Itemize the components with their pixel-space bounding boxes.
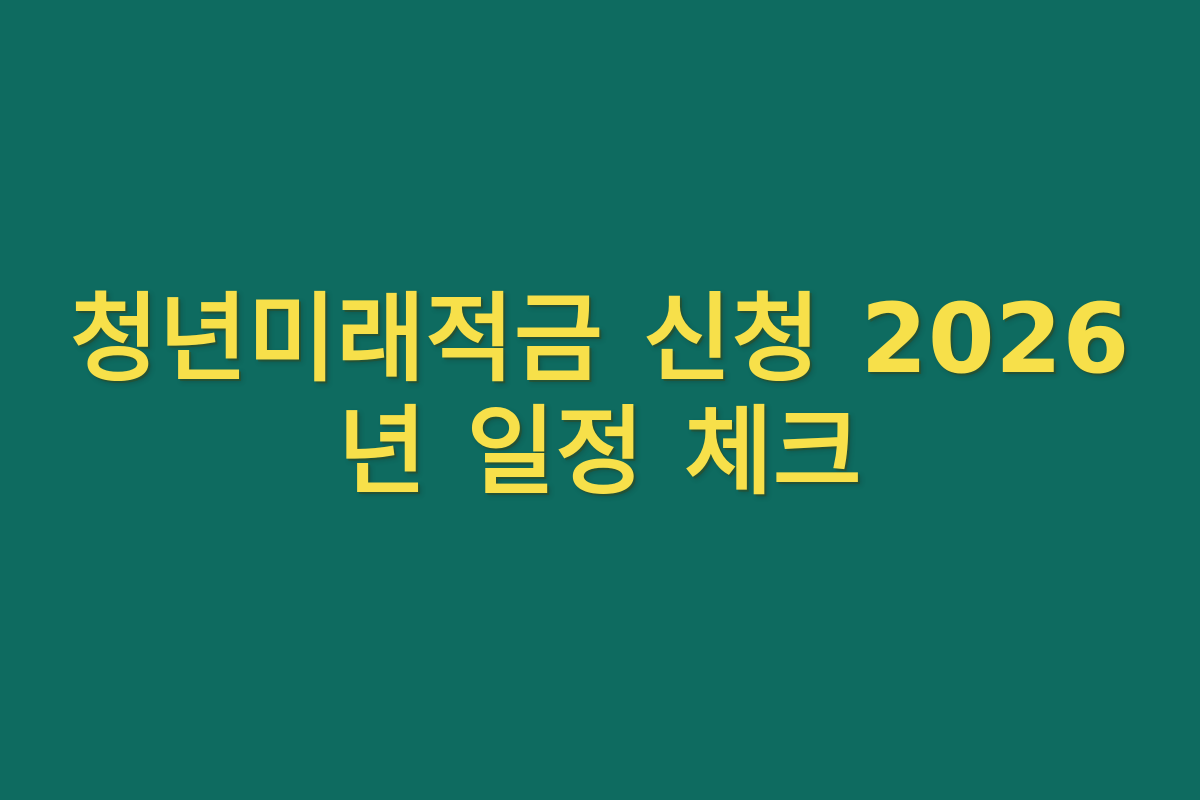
banner-title-block: 청년미래적금 신청 2026 년 일정 체크 [70,283,1130,510]
banner-title-line-2: 년 일정 체크 [70,396,1130,509]
banner-background: 청년미래적금 신청 2026 년 일정 체크 [0,0,1200,800]
banner-title-line-1: 청년미래적금 신청 2026 [70,283,1130,396]
